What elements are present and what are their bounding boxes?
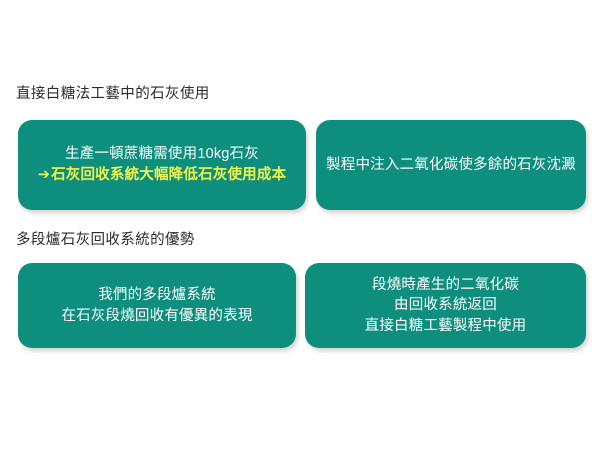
card-co2-injection: 製程中注入二氧化碳使多餘的石灰沈澱 [316,120,586,210]
section-heading-msf-advantages: 多段爐石灰回收系統的優勢 [16,233,195,248]
card-co2-return-line-1: 段燒時產生的二氧化碳 [313,275,578,296]
card-lime-usage: 生產一頓蔗糖需使用10kg石灰 ➔石灰回收系統大幅降低石灰使用成本 [18,120,306,210]
card-lime-usage-line-2-text: 石灰回收系統大幅降低石灰使用成本 [51,167,286,183]
card-msf-performance-line-1: 我們的多段爐系統 [26,285,288,306]
card-co2-return-line-3: 直接白糖工藝製程中使用 [313,316,578,337]
card-msf-performance-line-2: 在石灰段燒回收有優異的表現 [26,306,288,327]
card-co2-injection-line-1: 製程中注入二氧化碳使多餘的石灰沈澱 [324,155,578,176]
arrow-right-icon: ➔ [38,167,50,183]
card-lime-usage-line-1: 生產一頓蔗糖需使用10kg石灰 [26,144,298,165]
card-msf-performance: 我們的多段爐系統 在石灰段燒回收有優異的表現 [18,263,296,348]
card-lime-usage-line-2: ➔石灰回收系統大幅降低石灰使用成本 [26,165,298,186]
slide-canvas: 直接白糖法工藝中的石灰使用 生產一頓蔗糖需使用10kg石灰 ➔石灰回收系統大幅降… [0,0,600,450]
section-heading-lime-usage: 直接白糖法工藝中的石灰使用 [16,87,210,102]
card-co2-return-line-2: 由回收系統返回 [313,295,578,316]
card-co2-return: 段燒時產生的二氧化碳 由回收系統返回 直接白糖工藝製程中使用 [305,263,586,348]
